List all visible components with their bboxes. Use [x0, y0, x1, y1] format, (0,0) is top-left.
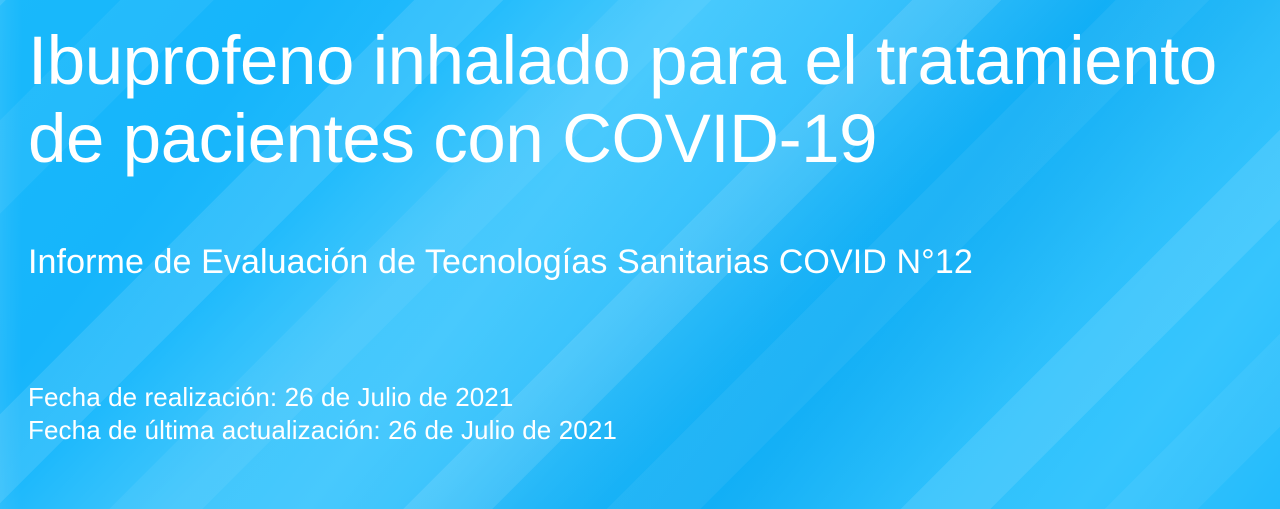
slide-title: Ibuprofeno inhalado para el tratamiento … [28, 22, 1240, 178]
slide-subtitle: Informe de Evaluación de Tecnologías San… [28, 241, 1240, 283]
slide-content: Ibuprofeno inhalado para el tratamiento … [28, 0, 1240, 509]
date-created: Fecha de realización: 26 de Julio de 202… [28, 381, 1240, 414]
title-slide: Ibuprofeno inhalado para el tratamiento … [0, 0, 1280, 509]
date-block: Fecha de realización: 26 de Julio de 202… [28, 381, 1240, 447]
date-last-updated: Fecha de última actualización: 26 de Jul… [28, 414, 1240, 447]
